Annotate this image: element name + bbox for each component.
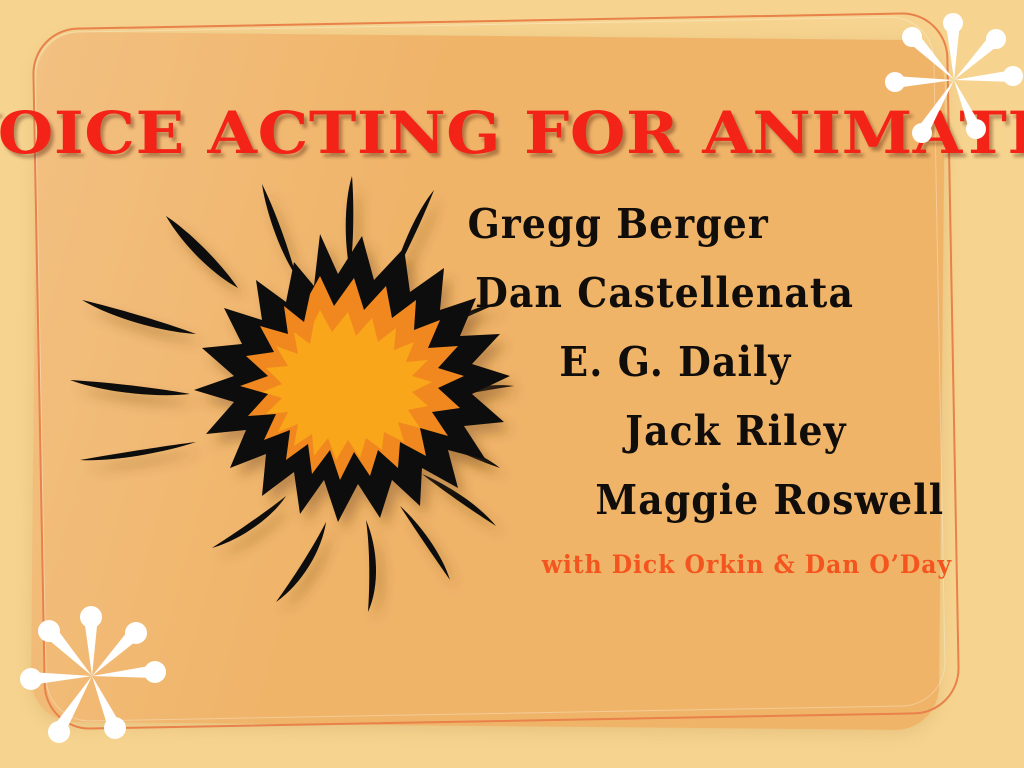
cast-list-item: Maggie Roswell — [468, 466, 946, 535]
cast-list-item: E. G. Daily — [468, 328, 946, 397]
cast-list-item: Dan Castellenata — [468, 259, 946, 328]
page-title: VOICE ACTING FOR ANIMATION — [0, 104, 1024, 162]
slide-canvas: VOICE ACTING FOR ANIMATION Gregg Berger … — [0, 0, 1024, 768]
cast-list-item: Jack Riley — [468, 397, 946, 466]
cast-list: Gregg Berger Dan Castellenata E. G. Dail… — [426, 190, 946, 535]
atomic-starburst-icon — [14, 598, 174, 758]
atomic-starburst-icon — [880, 6, 1024, 154]
credit-line: with Dick Orkin & Dan O’Day — [463, 550, 952, 579]
cast-list-item: Gregg Berger — [468, 190, 946, 259]
